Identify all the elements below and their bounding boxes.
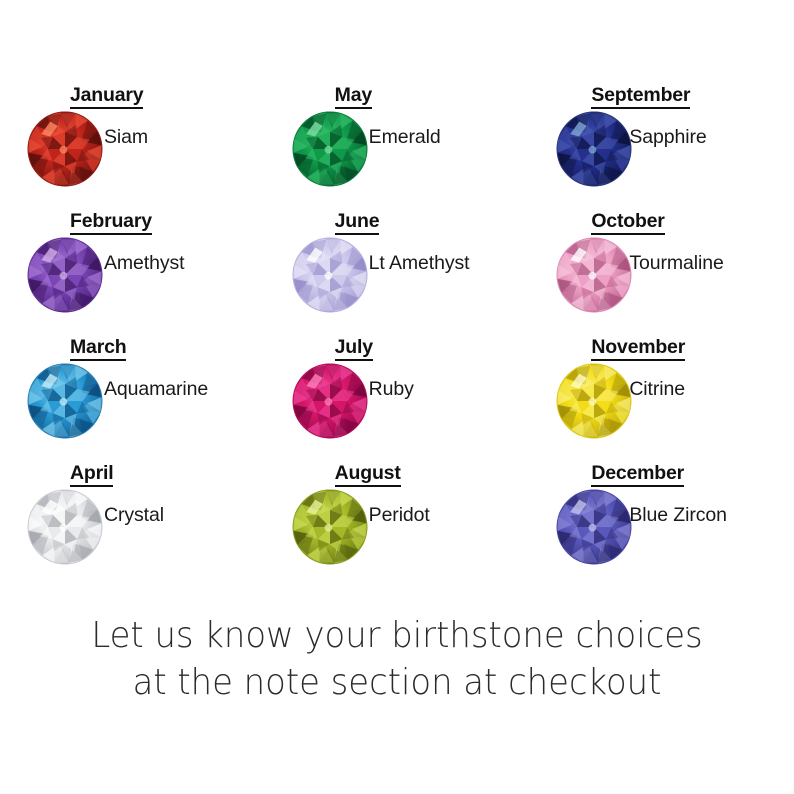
- birthstone-cell-june: JuneLt Amethyst: [265, 204, 530, 330]
- stone-label-april: Crystal: [104, 504, 164, 527]
- birthstone-cell-august: AugustPeridot: [265, 456, 530, 582]
- gem-june-icon: [291, 236, 369, 314]
- birthstone-cell-april: AprilCrystal: [0, 456, 265, 582]
- month-label-august: August: [335, 462, 535, 485]
- gem-december-icon: [555, 488, 633, 566]
- month-label-text: September: [591, 84, 690, 109]
- month-label-november: November: [591, 336, 791, 359]
- birthstone-cell-december: DecemberBlue Zircon: [529, 456, 794, 582]
- month-label-march: March: [70, 336, 270, 359]
- month-label-september: September: [591, 84, 791, 107]
- month-label-october: October: [591, 210, 791, 233]
- gem-july-icon: [291, 362, 369, 440]
- month-label-text: January: [70, 84, 143, 109]
- gem-march-icon: [26, 362, 104, 440]
- month-label-text: May: [335, 84, 372, 109]
- stone-label-july: Ruby: [369, 378, 414, 401]
- month-label-text: June: [335, 210, 380, 235]
- month-label-text: July: [335, 336, 373, 361]
- gem-may-icon: [291, 110, 369, 188]
- birthstone-cell-may: MayEmerald: [265, 78, 530, 204]
- month-label-text: March: [70, 336, 126, 361]
- stone-label-june: Lt Amethyst: [369, 252, 470, 275]
- footer-line-2: at the note section at checkout: [24, 659, 770, 706]
- month-label-text: December: [591, 462, 684, 487]
- month-label-text: August: [335, 462, 401, 487]
- birthstone-cell-march: MarchAquamarine: [0, 330, 265, 456]
- footer-line-1: Let us know your birthstone choices: [24, 612, 770, 659]
- stone-label-march: Aquamarine: [104, 378, 208, 401]
- stone-label-october: Tourmaline: [629, 252, 723, 275]
- birthstone-cell-november: NovemberCitrine: [529, 330, 794, 456]
- footer-note: Let us know your birthstone choices at t…: [0, 612, 794, 706]
- stone-label-december: Blue Zircon: [629, 504, 727, 527]
- gem-january-icon: [26, 110, 104, 188]
- gem-august-icon: [291, 488, 369, 566]
- month-label-june: June: [335, 210, 535, 233]
- gem-september-icon: [555, 110, 633, 188]
- month-label-text: October: [591, 210, 664, 235]
- month-label-may: May: [335, 84, 535, 107]
- month-label-text: April: [70, 462, 113, 487]
- stone-label-august: Peridot: [369, 504, 430, 527]
- month-label-february: February: [70, 210, 270, 233]
- stone-label-may: Emerald: [369, 126, 441, 149]
- birthstone-cell-october: OctoberTourmaline: [529, 204, 794, 330]
- month-label-july: July: [335, 336, 535, 359]
- birthstone-cell-september: SeptemberSapphire: [529, 78, 794, 204]
- gem-april-icon: [26, 488, 104, 566]
- gem-november-icon: [555, 362, 633, 440]
- birthstone-cell-july: JulyRuby: [265, 330, 530, 456]
- stone-label-november: Citrine: [629, 378, 685, 401]
- month-label-january: January: [70, 84, 270, 107]
- stone-label-january: Siam: [104, 126, 148, 149]
- month-label-text: November: [591, 336, 685, 361]
- birthstone-grid: JanuarySiamMayEmeraldSeptemberSapphireFe…: [0, 78, 794, 582]
- gem-october-icon: [555, 236, 633, 314]
- gem-february-icon: [26, 236, 104, 314]
- month-label-text: February: [70, 210, 152, 235]
- birthstone-cell-january: JanuarySiam: [0, 78, 265, 204]
- month-label-april: April: [70, 462, 270, 485]
- birthstone-cell-february: FebruaryAmethyst: [0, 204, 265, 330]
- month-label-december: December: [591, 462, 791, 485]
- birthstone-chart: JanuarySiamMayEmeraldSeptemberSapphireFe…: [0, 0, 794, 794]
- stone-label-september: Sapphire: [629, 126, 706, 149]
- stone-label-february: Amethyst: [104, 252, 184, 275]
